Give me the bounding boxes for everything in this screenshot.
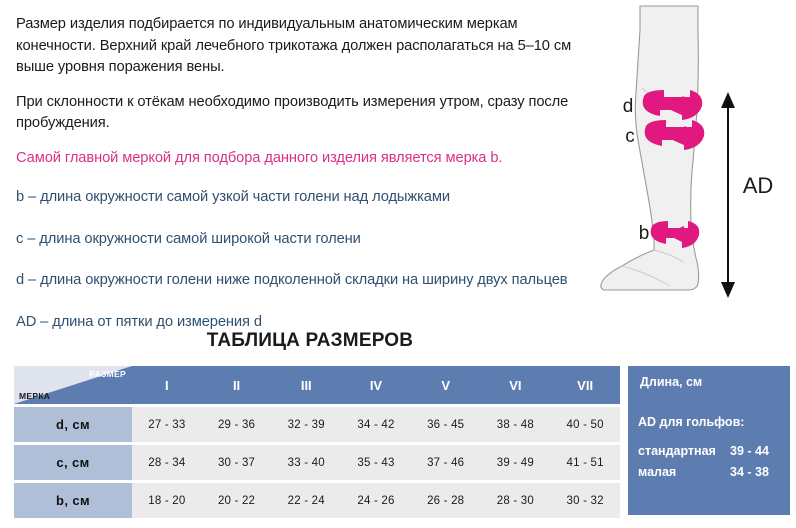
corner-label-measure: МЕРКА — [19, 391, 50, 401]
cell-d-1: 27 - 33 — [132, 407, 202, 442]
intro-paragraph-1: Размер изделия подбирается по индивидуал… — [16, 14, 596, 79]
cell-c-3: 33 - 40 — [271, 445, 341, 480]
table-row: d, см 27 - 33 29 - 36 32 - 39 34 - 42 36… — [14, 407, 620, 442]
cell-d-5: 36 - 45 — [411, 407, 481, 442]
column-header-4: IV — [341, 366, 411, 404]
column-header-5: V — [411, 366, 481, 404]
cell-c-2: 30 - 37 — [202, 445, 272, 480]
length-info-panel: Длина, см AD для гольфов: стандартная39 … — [628, 366, 790, 515]
cell-b-2: 20 - 22 — [202, 483, 272, 518]
diagram-label-c: c — [625, 126, 635, 147]
size-chart-page: Размер изделия подбирается по индивидуал… — [0, 0, 796, 528]
instructions-text-column: Размер изделия подбирается по индивидуал… — [16, 14, 596, 333]
definition-c: c – длина окружности самой широкой части… — [16, 229, 596, 251]
length-row-small-name: малая — [638, 465, 730, 479]
key-measurement-highlight: Самой главной меркой для подбора данного… — [16, 148, 596, 170]
table-row: b, см 18 - 20 20 - 22 22 - 24 24 - 26 26… — [14, 483, 620, 518]
cell-d-6: 38 - 48 — [481, 407, 551, 442]
length-row-standard-name: стандартная — [638, 444, 730, 458]
length-row-small-value: 34 - 38 — [730, 465, 769, 479]
size-table: РАЗМЕР МЕРКА I II III IV V VI VII d, см … — [14, 366, 620, 518]
diagram-label-d: d — [623, 96, 634, 117]
cell-c-1: 28 - 34 — [132, 445, 202, 480]
definition-d: d – длина окружности голени ниже подколе… — [16, 270, 596, 292]
cell-b-5: 26 - 28 — [411, 483, 481, 518]
size-table-title: ТАБЛИЦА РАЗМЕРОВ — [0, 330, 620, 352]
length-row-small: малая34 - 38 — [638, 465, 784, 479]
length-row-standard-value: 39 - 44 — [730, 444, 769, 458]
definition-b: b – длина окружности самой узкой части г… — [16, 187, 596, 209]
diagram-label-b: b — [639, 223, 650, 244]
column-header-6: VI — [481, 366, 551, 404]
cell-b-4: 24 - 26 — [341, 483, 411, 518]
length-panel-title: Длина, см — [640, 375, 702, 389]
cell-c-6: 39 - 49 — [481, 445, 551, 480]
table-row: c, см 28 - 34 30 - 37 33 - 40 35 - 43 37… — [14, 445, 620, 480]
cell-d-7: 40 - 50 — [550, 407, 620, 442]
row-label-d: d, см — [14, 407, 132, 442]
cell-d-4: 34 - 42 — [341, 407, 411, 442]
cell-d-2: 29 - 36 — [202, 407, 272, 442]
column-header-3: III — [271, 366, 341, 404]
ad-dimension-arrow-icon — [721, 92, 735, 298]
cell-d-3: 32 - 39 — [271, 407, 341, 442]
cell-c-7: 41 - 51 — [550, 445, 620, 480]
corner-label-size: РАЗМЕР — [89, 369, 126, 379]
length-row-standard: стандартная39 - 44 — [638, 444, 784, 458]
cell-b-7: 30 - 32 — [550, 483, 620, 518]
column-header-7: VII — [550, 366, 620, 404]
table-header-row: РАЗМЕР МЕРКА I II III IV V VI VII — [14, 366, 620, 404]
row-label-b: b, см — [14, 483, 132, 518]
column-header-1: I — [132, 366, 202, 404]
cell-b-6: 28 - 30 — [481, 483, 551, 518]
cell-c-5: 37 - 46 — [411, 445, 481, 480]
diagram-label-ad: AD — [743, 173, 774, 198]
intro-paragraph-2: При склонности к отёкам необходимо произ… — [16, 92, 596, 135]
cell-b-1: 18 - 20 — [132, 483, 202, 518]
row-label-c: c, см — [14, 445, 132, 480]
cell-c-4: 35 - 43 — [341, 445, 411, 480]
table-corner-cell: РАЗМЕР МЕРКА — [14, 366, 132, 404]
length-panel-subtitle: AD для гольфов: — [638, 415, 744, 429]
leg-measurement-diagram: d c b AD — [598, 0, 796, 326]
cell-b-3: 22 - 24 — [271, 483, 341, 518]
column-header-2: II — [202, 366, 272, 404]
